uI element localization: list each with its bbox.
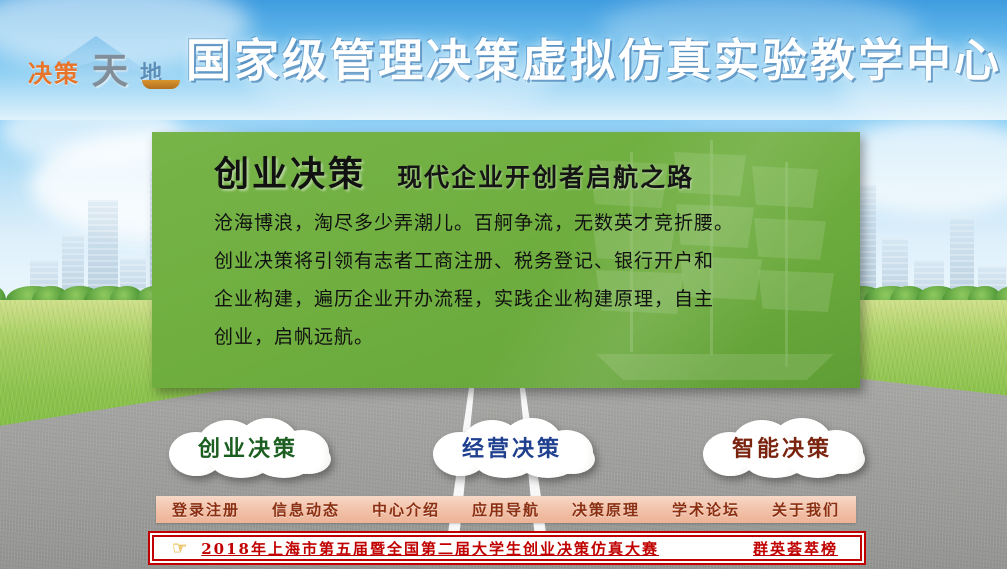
site-logo[interactable]: 决策 天 地 (22, 34, 198, 96)
cloud-button-label: 创业决策 (163, 416, 333, 478)
cloud-button-label: 智能决策 (697, 416, 867, 478)
boat-icon (142, 80, 180, 89)
page-title: 国家级管理决策虚拟仿真实验教学中心 (186, 30, 996, 92)
nav-item-zhongxin-jieshao[interactable]: 中心介绍 (372, 499, 440, 520)
cloud-button-label: 经营决策 (427, 416, 597, 478)
cloud-button-jingying-juece[interactable]: 经营决策 (427, 416, 597, 478)
nav-item-xinxi-dongtai[interactable]: 信息动态 (272, 499, 340, 520)
nav-item-xueshu-luntan[interactable]: 学术论坛 (672, 499, 740, 520)
nav-item-denglu-zhuce[interactable]: 登录注册 (172, 499, 240, 520)
announcement-banner: ☞ 2018年上海市第五届暨全国第二届大学生创业决策仿真大赛 群英荟萃榜 (148, 531, 866, 565)
nav-item-juece-yuanli[interactable]: 决策原理 (572, 499, 640, 520)
ship-sail (752, 166, 818, 208)
main-navigation: 登录注册 信息动态 中心介绍 应用导航 决策原理 学术论坛 关于我们 (156, 496, 856, 523)
content-panel: 创业决策 现代企业开创者启航之路 沧海博浪，淘尽多少弄潮儿。百舸争流，无数英才竞… (152, 132, 860, 388)
panel-heading-row: 创业决策 现代企业开创者启航之路 (214, 146, 694, 197)
nav-item-guanyu-women[interactable]: 关于我们 (772, 499, 840, 520)
panel-title: 创业决策 (214, 154, 366, 195)
paragraph-line: 创业决策将引领有志者工商注册、税务登记、银行开户和 (214, 242, 834, 280)
banner-leaderboard-link[interactable]: 群英荟萃榜 (753, 538, 838, 559)
ship-hull (580, 354, 850, 380)
cloud-button-chuangye-juece[interactable]: 创业决策 (163, 416, 333, 478)
banner-competition-link[interactable]: 2018年上海市第五届暨全国第二届大学生创业决策仿真大赛 (201, 538, 659, 559)
paragraph-line: 创业，启帆远航。 (214, 318, 834, 356)
site-header: 决策 天 地 国家级管理决策虚拟仿真实验教学中心 (0, 0, 1007, 120)
panel-paragraph: 沧海博浪，淘尽多少弄潮儿。百舸争流，无数英才竞折腰。 创业决策将引领有志者工商注… (214, 204, 834, 356)
paragraph-line: 沧海博浪，淘尽多少弄潮儿。百舸争流，无数英才竞折腰。 (214, 204, 834, 242)
logo-text-left: 决策 (28, 54, 80, 89)
nav-item-yingyong-daohang[interactable]: 应用导航 (472, 499, 540, 520)
cloud-button-zhineng-juece[interactable]: 智能决策 (697, 416, 867, 478)
logo-text-mid: 天 (92, 42, 128, 94)
panel-subtitle: 现代企业开创者启航之路 (397, 163, 694, 192)
page-root: 决策 天 地 国家级管理决策虚拟仿真实验教学中心 创业决策 现代企业开创者启航之… (0, 0, 1007, 569)
pointing-hand-icon: ☞ (172, 540, 187, 557)
paragraph-line: 企业构建，遍历企业开办流程，实践企业构建原理，自主 (214, 280, 834, 318)
